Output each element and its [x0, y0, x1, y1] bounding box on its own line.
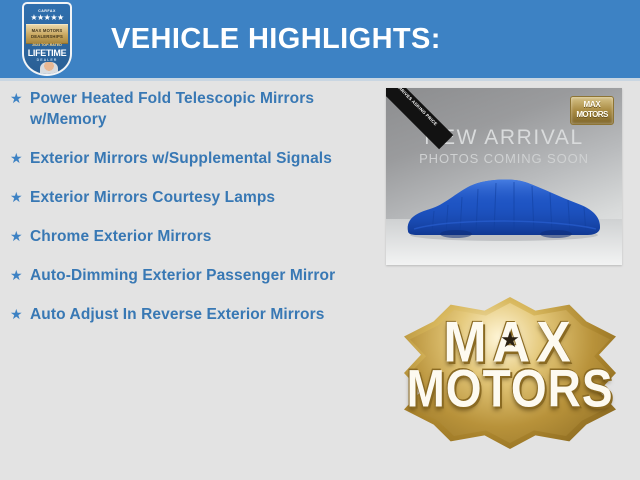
page-title: VEHICLE HIGHLIGHTS:	[111, 23, 441, 56]
badge-shield-shape: CARFAX ★★★★★ MAX MOTORS DEALERSHIPS 2023…	[22, 2, 72, 76]
badge-top-rated-label: 2023 TOP-RATED	[24, 43, 70, 47]
highlight-text: Auto-Dimming Exterior Passenger Mirror	[30, 265, 375, 286]
badge-dealer-name-line2: DEALERSHIPS	[26, 34, 68, 39]
list-item: ★ Auto-Dimming Exterior Passenger Mirror	[0, 265, 375, 286]
badge-person-icon	[40, 62, 58, 76]
highlight-text: Auto Adjust In Reverse Exterior Mirrors	[30, 304, 375, 325]
star-bullet-icon: ★	[10, 265, 30, 286]
star-bullet-icon: ★	[10, 148, 30, 169]
highlight-text: Chrome Exterior Mirrors	[30, 226, 375, 247]
max-motors-brand-logo: MAX ★ MOTORS	[404, 297, 616, 449]
highlight-text: Power Heated Fold Telescopic Mirrors w/M…	[30, 88, 375, 130]
star-bullet-icon: ★	[10, 226, 30, 247]
vehicle-highlights-list: ★ Power Heated Fold Telescopic Mirrors w…	[0, 88, 375, 343]
header-divider	[0, 78, 640, 81]
badge-ribbon: MAX MOTORS DEALERSHIPS	[26, 24, 68, 44]
highlight-text: Exterior Mirrors Courtesy Lamps	[30, 187, 375, 208]
badge-stars-icon: ★★★★★	[24, 14, 70, 22]
max-motors-watermark-logo: MAX MOTORS	[570, 96, 614, 125]
logo-star-icon: ★	[500, 329, 520, 351]
highlight-text: Exterior Mirrors w/Supplemental Signals	[30, 148, 375, 169]
list-item: ★ Exterior Mirrors w/Supplemental Signal…	[0, 148, 375, 169]
list-item: ★ Chrome Exterior Mirrors	[0, 226, 375, 247]
photos-coming-soon-subhead: PHOTOS COMING SOON	[386, 151, 622, 166]
watermark-line2: MOTORS	[571, 110, 613, 119]
badge-lifetime-label: LIFETIME	[24, 48, 70, 58]
covered-car-illustration	[404, 169, 604, 241]
star-bullet-icon: ★	[10, 187, 30, 208]
list-item: ★ Exterior Mirrors Courtesy Lamps	[0, 187, 375, 208]
list-item: ★ Auto Adjust In Reverse Exterior Mirror…	[0, 304, 375, 325]
vehicle-photo-placeholder[interactable]: NEW ARRIVAL PHOTOS COMING SOON	[386, 88, 622, 265]
star-bullet-icon: ★	[10, 88, 30, 109]
watermark-line1: MAX	[571, 100, 613, 109]
slide-root: CARFAX ★★★★★ MAX MOTORS DEALERSHIPS 2023…	[0, 0, 640, 480]
badge-dealer-name-line1: MAX MOTORS	[26, 28, 68, 33]
logo-motors-text: MOTORS	[404, 362, 616, 415]
carfax-lifetime-dealer-badge: CARFAX ★★★★★ MAX MOTORS DEALERSHIPS 2023…	[22, 2, 72, 76]
list-item: ★ Power Heated Fold Telescopic Mirrors w…	[0, 88, 375, 130]
star-bullet-icon: ★	[10, 304, 30, 325]
